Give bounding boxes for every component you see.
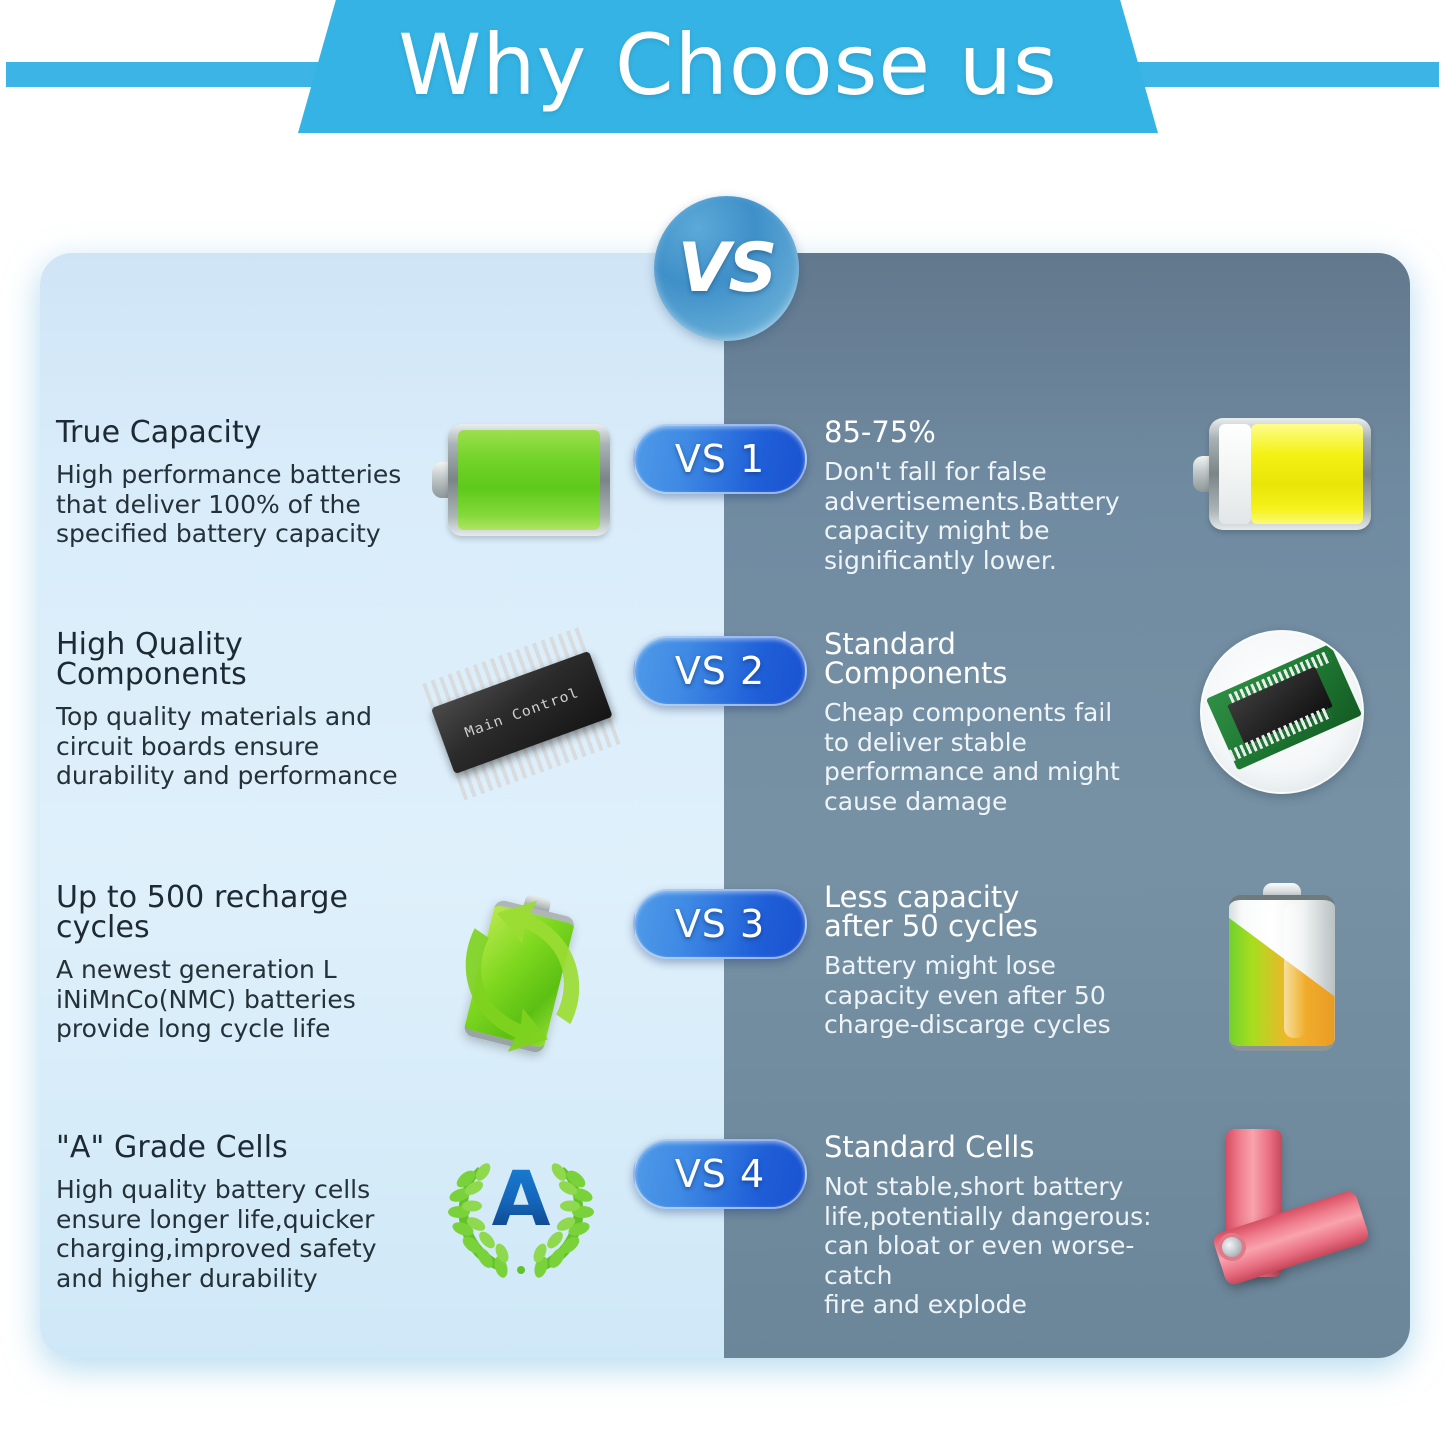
row-4-badge-cell: VS 4	[630, 1133, 810, 1209]
header-trapezoid: Why Choose us	[298, 0, 1158, 133]
vs-pill-3[interactable]: VS 3	[633, 889, 807, 959]
vs-pill-1-label: VS 1	[675, 440, 765, 478]
header-rule-left	[6, 62, 356, 87]
row-3-badge-cell: VS 3	[630, 883, 810, 959]
row-2-badge-cell: VS 2	[630, 630, 810, 706]
panel-theirs	[724, 253, 1410, 1358]
vs-pill-4[interactable]: VS 4	[633, 1139, 807, 1209]
vs-circle-badge: VS	[654, 196, 799, 341]
vs-pill-3-label: VS 3	[675, 905, 765, 943]
vs-circle-label: VS	[678, 235, 776, 303]
vs-pill-2[interactable]: VS 2	[633, 636, 807, 706]
vs-pill-4-label: VS 4	[675, 1155, 765, 1193]
panel-ours	[40, 253, 724, 1358]
vs-pill-1[interactable]: VS 1	[633, 424, 807, 494]
header-banner: Why Choose us	[0, 0, 1445, 150]
vs-pill-2-label: VS 2	[675, 652, 765, 690]
row-1-badge-cell: VS 1	[630, 418, 810, 494]
page-title: Why Choose us	[398, 23, 1058, 107]
